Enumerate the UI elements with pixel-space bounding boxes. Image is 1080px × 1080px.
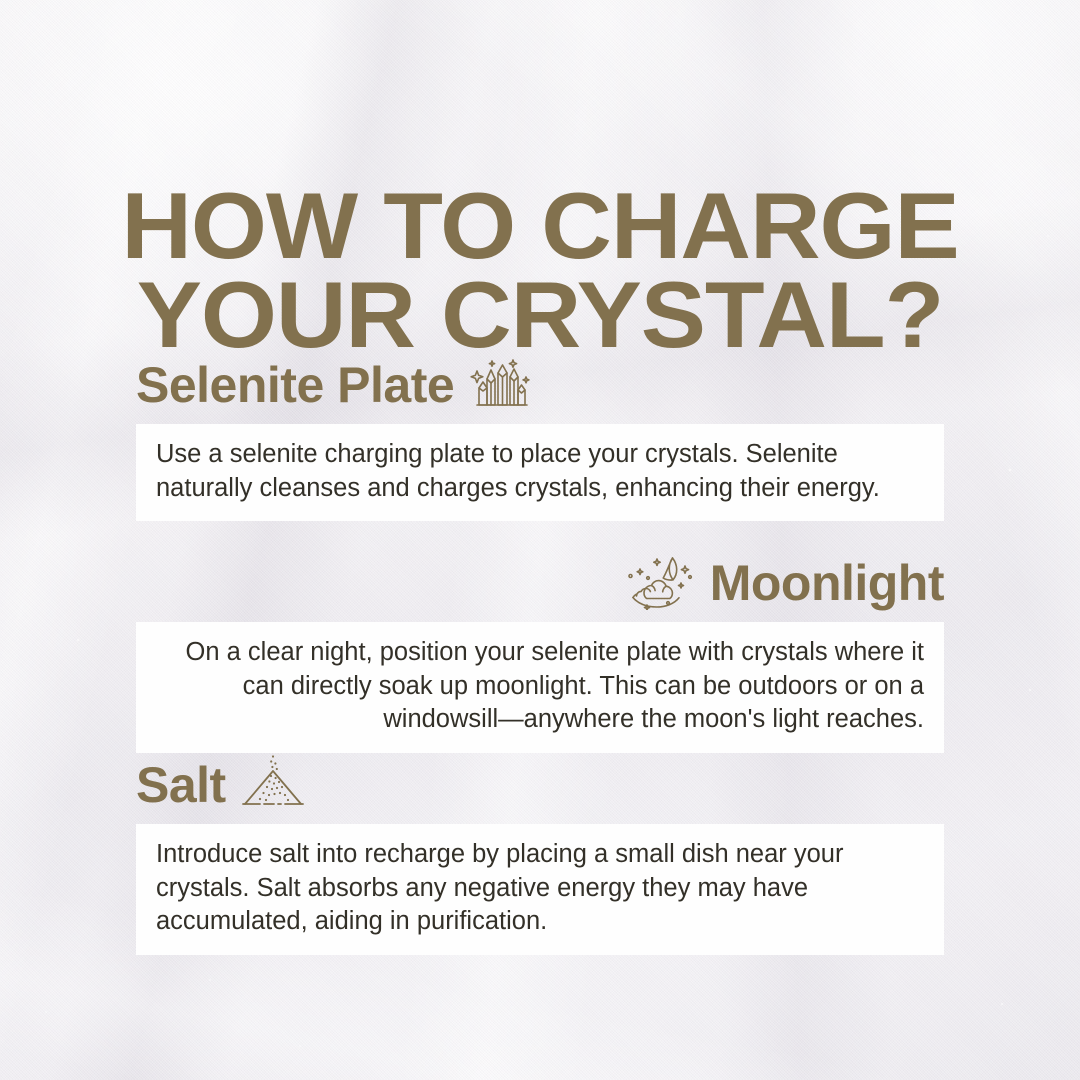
- section-body-text-moonlight: On a clear night, position your selenite…: [156, 636, 924, 737]
- section-heading-row-salt: Salt: [136, 754, 944, 816]
- section-body-selenite: Use a selenite charging plate to place y…: [136, 424, 944, 521]
- infographic-canvas: HOW TO CHARGE YOUR CRYSTAL? Selenite Pla…: [0, 0, 1080, 1080]
- section-body-text-selenite: Use a selenite charging plate to place y…: [156, 438, 924, 505]
- section-heading-row-moonlight: Moonlight: [136, 552, 944, 614]
- section-heading-selenite: Selenite Plate: [136, 360, 454, 410]
- crystal-cluster-icon: [468, 355, 532, 416]
- section-body-text-salt: Introduce salt into recharge by placing …: [156, 838, 924, 939]
- salt-pile-icon: [240, 754, 306, 817]
- page-title-line-2: YOUR CRYSTAL?: [41, 270, 1039, 359]
- section-moonlight: Moonlight On a clear night, position you…: [136, 552, 944, 753]
- page-title-line-1: HOW TO CHARGE: [41, 181, 1039, 270]
- section-selenite-plate: Selenite Plate: [136, 354, 944, 521]
- section-heading-row-selenite: Selenite Plate: [136, 354, 944, 416]
- page-title: HOW TO CHARGE YOUR CRYSTAL?: [0, 181, 1080, 360]
- section-salt: Salt: [136, 754, 944, 955]
- section-body-salt: Introduce salt into recharge by placing …: [136, 824, 944, 955]
- section-heading-salt: Salt: [136, 760, 226, 810]
- section-heading-moonlight: Moonlight: [710, 558, 944, 608]
- crescent-moon-clouds-icon: [624, 552, 696, 615]
- section-body-moonlight: On a clear night, position your selenite…: [136, 622, 944, 753]
